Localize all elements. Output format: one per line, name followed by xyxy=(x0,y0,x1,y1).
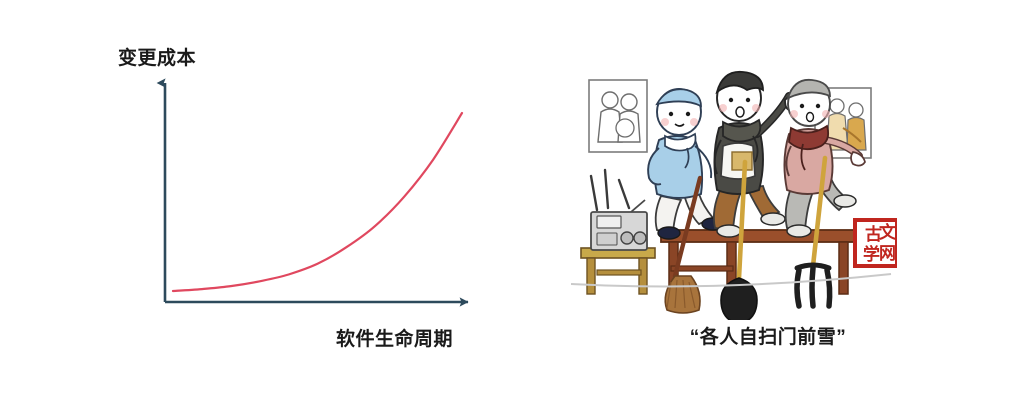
left-figure-icon xyxy=(648,89,724,313)
illustration-panel: 古 文 学 网 “各人自扫门前雪” xyxy=(512,0,1024,401)
slide-canvas: 变更成本 软件生命周期 xyxy=(0,0,1024,401)
seal-stamp-icon: 古 文 学 网 xyxy=(855,220,897,266)
each-sweeps-own-snow-illustration: 古 文 学 网 xyxy=(567,70,897,320)
cost-of-change-curve xyxy=(173,113,462,291)
motion-lines-icon xyxy=(591,170,629,210)
radio-icon xyxy=(591,200,647,250)
svg-text:网: 网 xyxy=(879,244,896,264)
illustration-caption: “各人自扫门前雪” xyxy=(512,322,1024,349)
svg-text:学: 学 xyxy=(863,244,880,265)
wall-picture-left-icon xyxy=(589,80,647,152)
cost-of-change-chart: 变更成本 软件生命周期 xyxy=(0,0,512,401)
y-axis-label: 变更成本 xyxy=(118,43,196,70)
x-axis-label: 软件生命周期 xyxy=(336,324,453,351)
svg-text:文: 文 xyxy=(879,222,897,243)
